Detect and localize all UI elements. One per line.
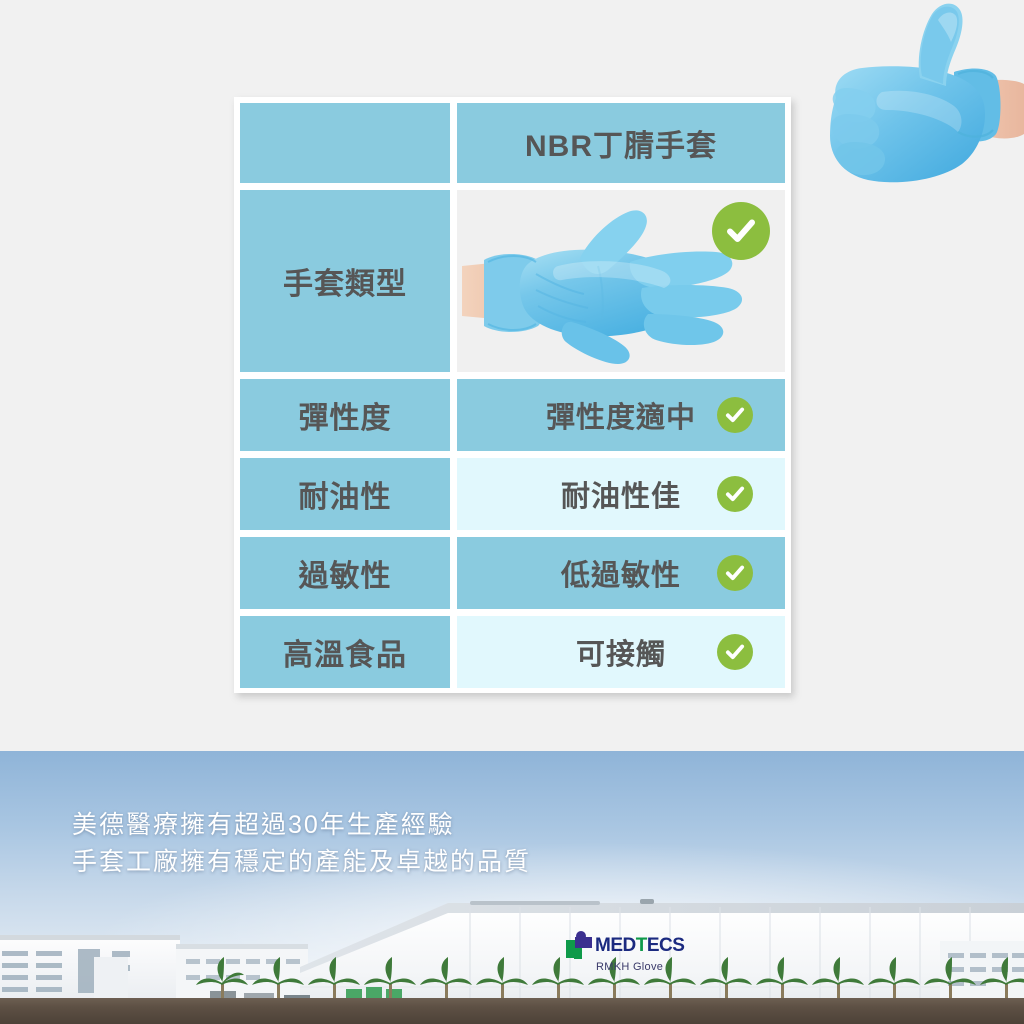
header-cell-product: NBR丁腈手套 — [457, 103, 785, 183]
row-divider — [240, 530, 785, 537]
water-foreground — [0, 998, 1024, 1024]
product-title: NBR丁腈手套 — [525, 121, 717, 165]
green-check-circle-icon — [712, 202, 770, 260]
row-divider — [240, 183, 785, 190]
banner-headline-2: 手套工廠擁有穩定的產能及卓越的品質 — [72, 842, 531, 878]
row-value-cell: 耐油性佳 — [457, 458, 785, 530]
column-divider — [450, 379, 457, 451]
factory-banner — [0, 751, 1024, 1024]
row-value: 耐油性佳 — [561, 473, 681, 515]
logo-word-part-1: MED — [595, 935, 636, 956]
row-label: 過敏性 — [299, 551, 392, 595]
logo-word-t: T — [636, 935, 647, 956]
logo-row: MEDTECS — [566, 931, 684, 959]
row-value-cell — [457, 190, 785, 372]
row-value-cell: 低過敏性 — [457, 537, 785, 609]
table-row: 手套類型 — [240, 190, 785, 372]
table-row: 過敏性 低過敏性 — [240, 537, 785, 609]
row-label-cell: 彈性度 — [240, 379, 450, 451]
medtecs-logo: MEDTECS RMKH Glove — [566, 931, 684, 975]
glove-comparison-table: NBR丁腈手套 手套類型 — [234, 97, 791, 693]
blue-nitrile-glove-thumbs-up-icon — [812, 0, 1024, 196]
table-row: 高溫食品 可接觸 — [240, 616, 785, 688]
table-header-row: NBR丁腈手套 — [240, 103, 785, 183]
row-value-cell: 可接觸 — [457, 616, 785, 688]
row-divider — [240, 372, 785, 379]
row-label-cell: 手套類型 — [240, 190, 450, 372]
row-value: 低過敏性 — [561, 552, 681, 594]
green-check-circle-icon — [717, 555, 753, 591]
column-divider — [450, 190, 457, 372]
row-label-cell: 高溫食品 — [240, 616, 450, 688]
green-check-circle-icon — [717, 476, 753, 512]
column-divider — [450, 537, 457, 609]
row-label: 耐油性 — [299, 472, 392, 516]
column-divider — [450, 458, 457, 530]
column-divider — [450, 103, 457, 183]
column-divider — [450, 616, 457, 688]
header-cell-blank — [240, 103, 450, 183]
medtecs-person-mark-icon — [566, 931, 592, 959]
row-label: 手套類型 — [283, 259, 407, 303]
banner-headline-1: 美德醫療擁有超過30年生產經驗 — [72, 805, 455, 841]
row-value: 可接觸 — [576, 631, 666, 673]
logo-word-part-2: ECS — [647, 935, 685, 956]
row-label: 彈性度 — [299, 393, 392, 437]
row-value-cell: 彈性度適中 — [457, 379, 785, 451]
row-label: 高溫食品 — [283, 630, 407, 674]
table-row: 耐油性 耐油性佳 — [240, 458, 785, 530]
top-section: NBR丁腈手套 手套類型 — [0, 0, 1024, 751]
row-label-cell: 過敏性 — [240, 537, 450, 609]
row-divider — [240, 451, 785, 458]
row-label-cell: 耐油性 — [240, 458, 450, 530]
logo-wordmark: MEDTECS — [595, 936, 684, 955]
green-check-circle-icon — [717, 397, 753, 433]
factory-illustration — [0, 751, 1024, 1024]
table-row: 彈性度 彈性度適中 — [240, 379, 785, 451]
green-check-circle-icon — [717, 634, 753, 670]
row-divider — [240, 609, 785, 616]
row-value: 彈性度適中 — [546, 394, 696, 436]
logo-subtitle: RMKH Glove — [596, 961, 684, 973]
